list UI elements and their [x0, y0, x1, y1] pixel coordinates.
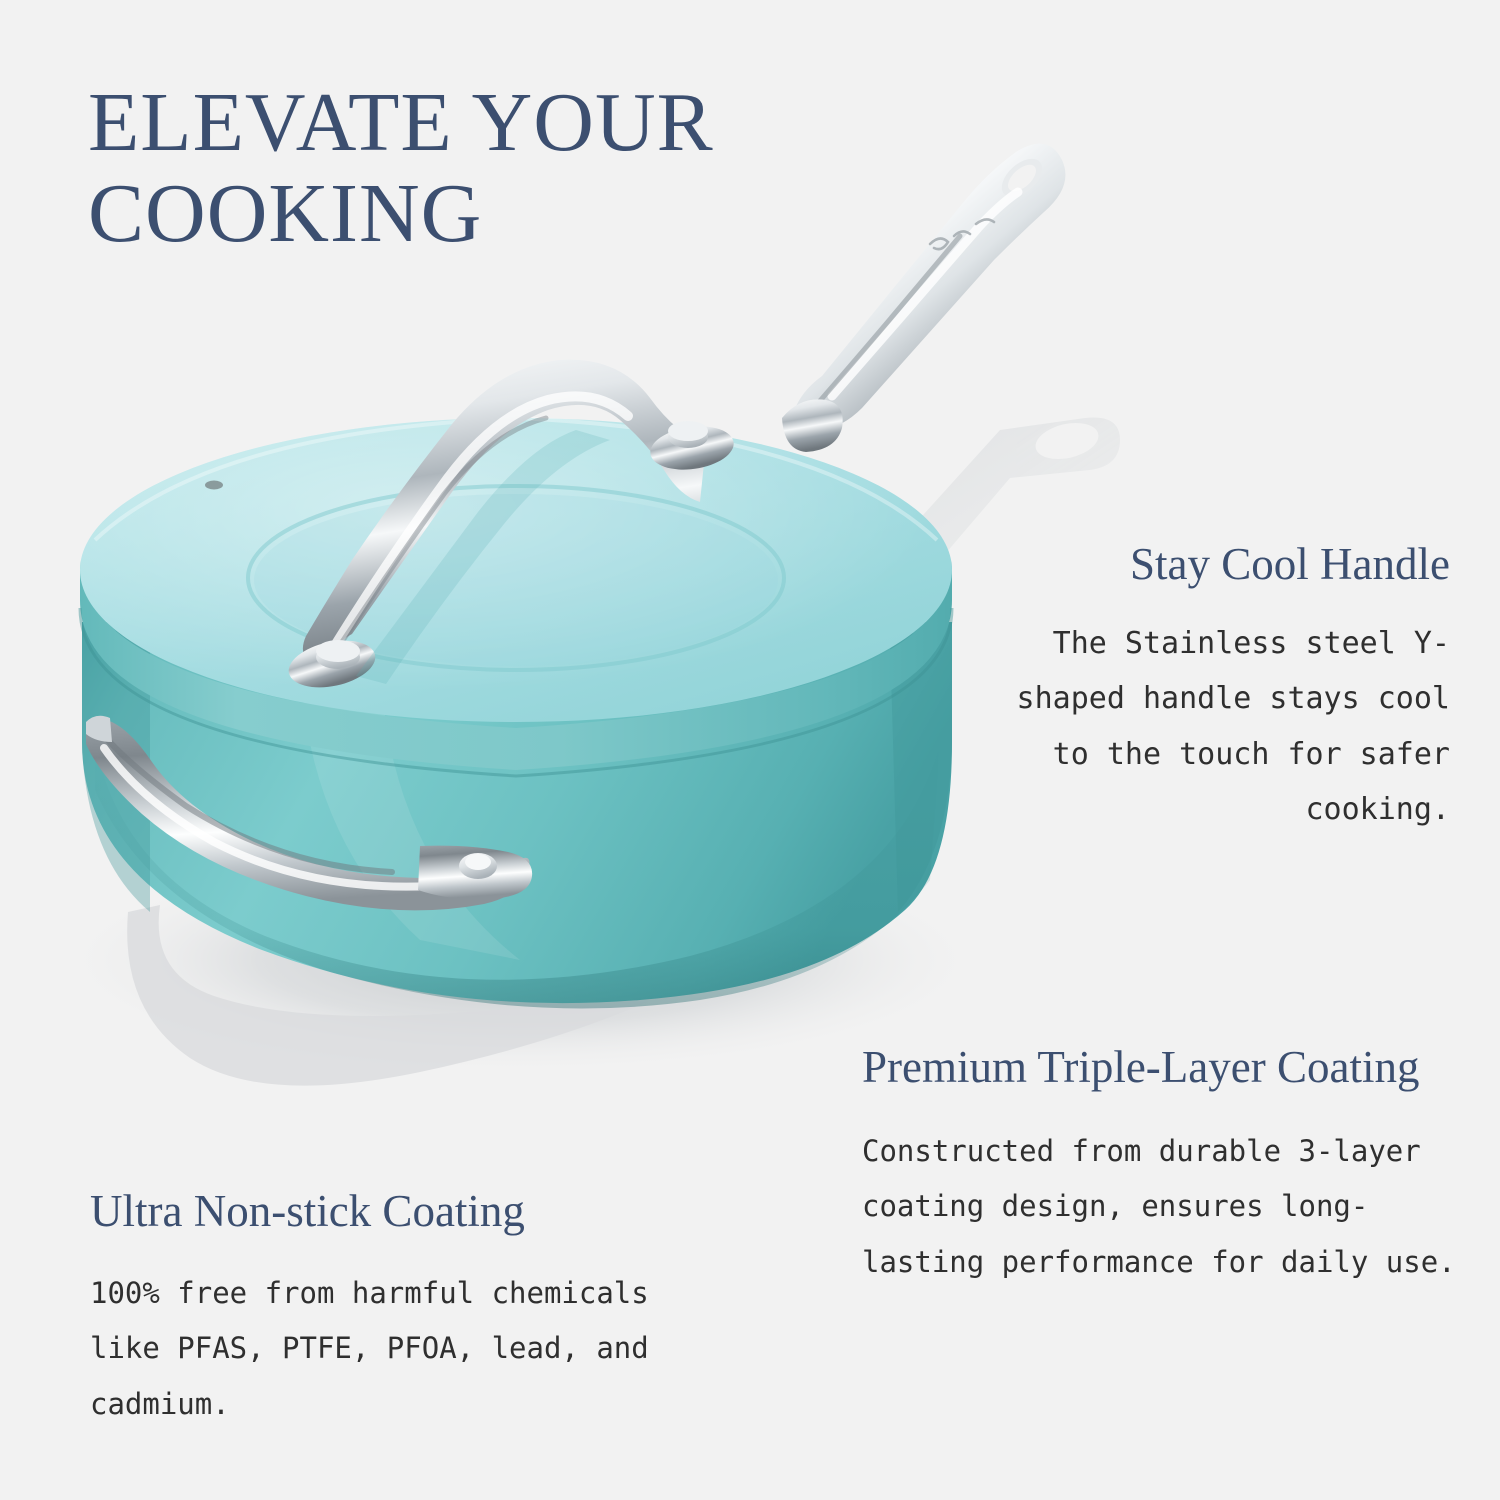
helper-handle — [86, 716, 532, 911]
lid-recess-ring — [248, 486, 784, 670]
feature-ultra-non-stick-coating: Ultra Non-stick Coating 100% free from h… — [90, 1186, 730, 1432]
feature-body-premium-triple-layer-coating: Constructed from durable 3-layer coating… — [862, 1124, 1462, 1289]
helper-handle-shadow — [127, 905, 660, 1086]
long-handle-shadow — [905, 417, 1120, 560]
feature-stay-cool-handle: Stay Cool Handle The Stainless steel Y-s… — [1000, 540, 1450, 838]
lid — [80, 418, 952, 776]
rivet-left — [316, 645, 360, 669]
feature-heading-premium-triple-layer-coating: Premium Triple-Layer Coating — [862, 1042, 1462, 1092]
feature-body-ultra-non-stick-coating: 100% free from harmful chemicals like PF… — [90, 1266, 730, 1431]
handle-hang-hole — [995, 152, 1049, 205]
page-title: ELEVATE YOUR COOKING — [88, 78, 948, 259]
infographic-canvas: ELEVATE YOUR COOKING — [0, 0, 1500, 1500]
page-title-line-1: ELEVATE YOUR — [88, 78, 948, 169]
rivet-right — [668, 426, 708, 448]
lid-steam-vent — [205, 481, 223, 490]
lid-arch-handle — [284, 360, 736, 695]
rivet-helper — [459, 853, 497, 879]
page-title-line-2: COOKING — [88, 169, 948, 260]
feature-heading-stay-cool-handle: Stay Cool Handle — [1000, 540, 1450, 590]
lid-top — [80, 418, 952, 722]
feature-body-stay-cool-handle: The Stainless steel Y-shaped handle stay… — [1000, 616, 1450, 838]
feature-heading-ultra-non-stick-coating: Ultra Non-stick Coating — [90, 1186, 730, 1236]
drop-shadow — [50, 845, 990, 1075]
feature-premium-triple-layer-coating: Premium Triple-Layer Coating Constructed… — [862, 1042, 1462, 1290]
pot-body — [82, 622, 952, 1008]
